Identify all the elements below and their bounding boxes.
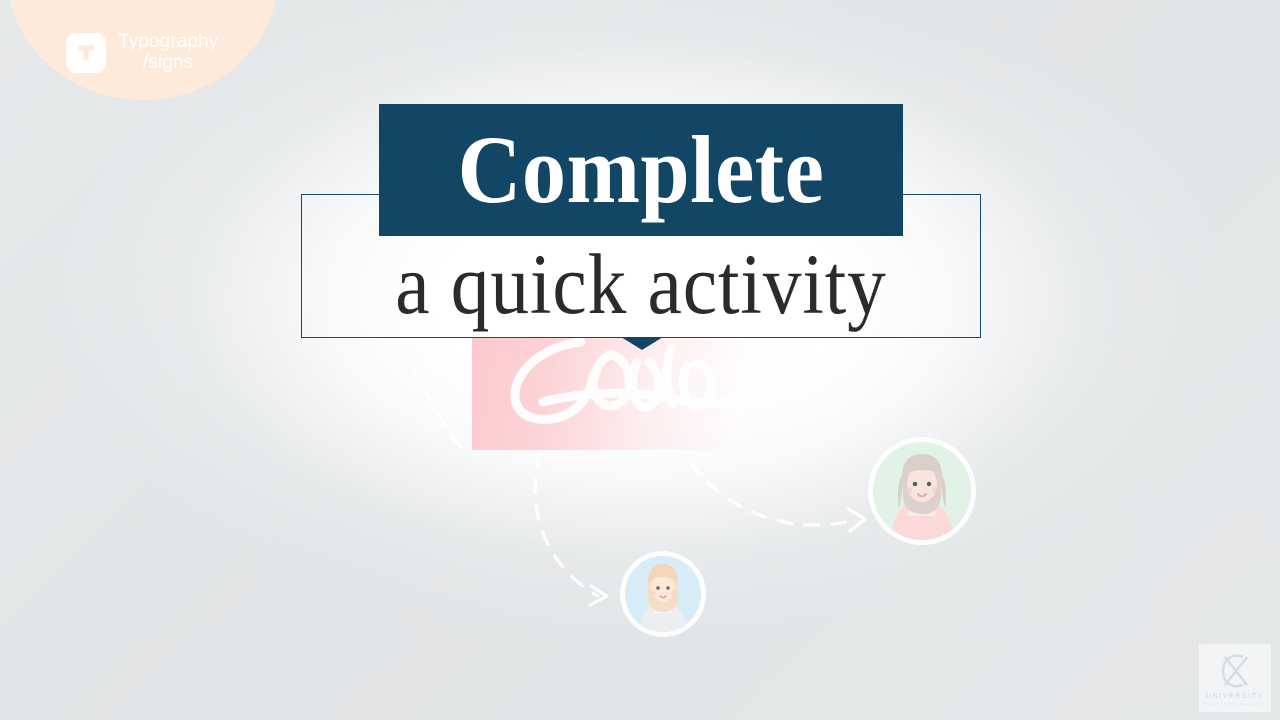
arrowhead-b (590, 586, 607, 605)
x-university-logo: UNIVERSITY SCHOOL OF BUSINESS AND LAW (1199, 644, 1271, 712)
down-triangle-icon (621, 337, 663, 350)
arrowhead-a (848, 509, 865, 531)
slide-canvas: Typography /signs (0, 0, 1280, 720)
title-line-2: a quick activity (335, 232, 947, 336)
watermark-sublabel: SCHOOL OF BUSINESS AND LAW (1203, 702, 1266, 706)
watermark-label: UNIVERSITY (1206, 693, 1264, 700)
topic-badge: Typography /signs (8, 18, 278, 88)
typography-t-icon (66, 33, 106, 73)
topic-badge-label: Typography /signs (118, 32, 218, 73)
title-block: Complete a quick activity (301, 104, 981, 352)
avatar-person (625, 556, 701, 632)
avatar-woman (873, 442, 971, 540)
title-line-1: Complete (400, 104, 882, 236)
dashed-arrow-to-avatar-b (535, 452, 598, 596)
dashed-arrow-to-avatar-a (690, 462, 856, 525)
brand-logo-block (472, 338, 817, 450)
dashed-arc-left (412, 366, 470, 454)
